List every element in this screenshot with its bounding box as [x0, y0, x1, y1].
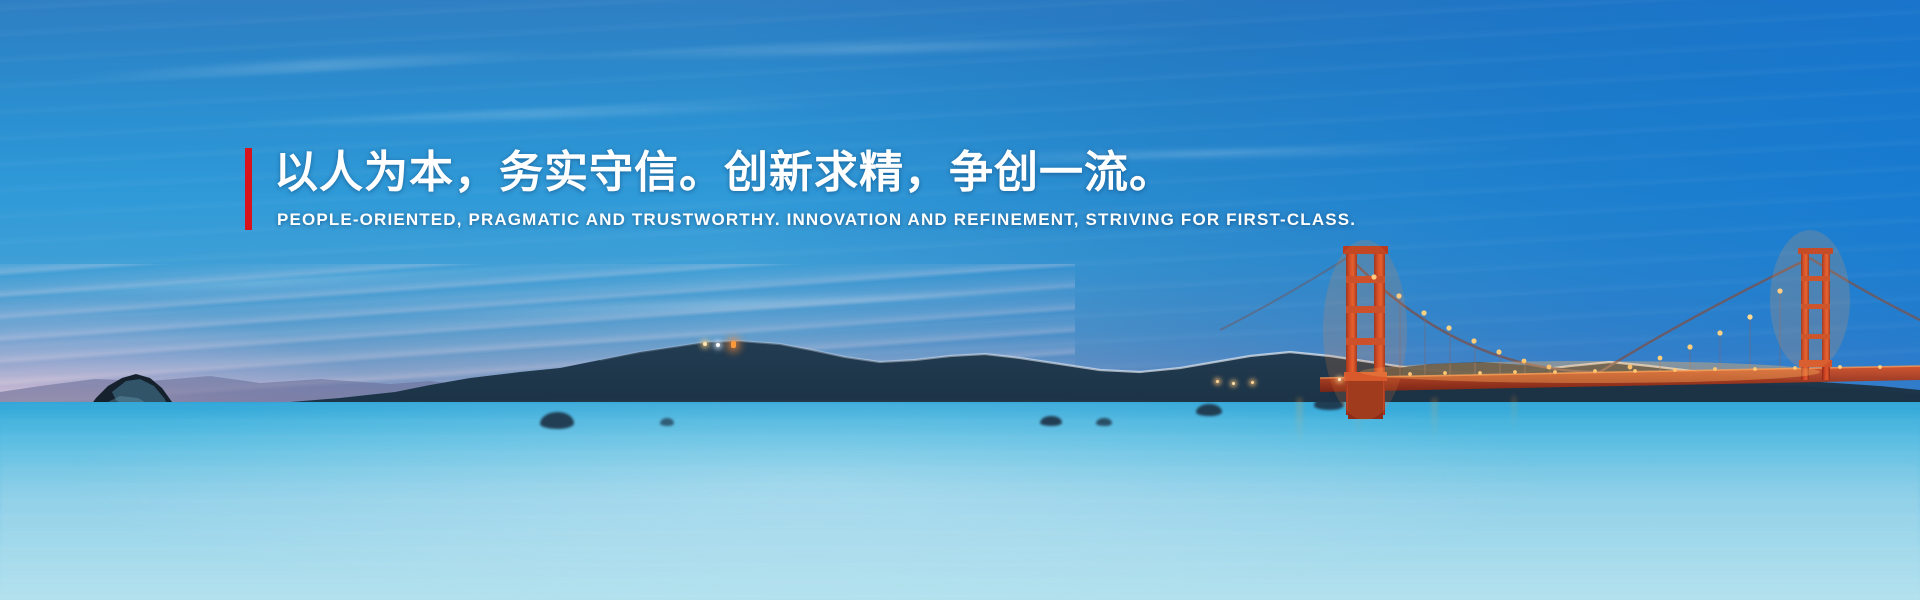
ridge-light-icon	[703, 342, 707, 346]
banner-headline: 以人为本，务实守信。创新求精，争创一流。	[274, 148, 1356, 198]
shore-light-icon	[1251, 381, 1254, 384]
bridge-light-glow	[1323, 230, 1850, 420]
ridge-light-icon	[731, 341, 736, 348]
hero-banner: 以人为本，务实守信。创新求精，争创一流。 PEOPLE-ORIENTED, PR…	[0, 0, 1920, 600]
water-rock	[1040, 416, 1062, 426]
shore-light-icon	[1216, 380, 1219, 383]
golden-gate-bridge	[1160, 0, 1920, 600]
shore-light-icon	[1338, 378, 1341, 381]
water-rock	[660, 418, 674, 426]
red-accent-bar	[245, 148, 252, 230]
bridge-cable-lights	[1371, 274, 1782, 369]
banner-text-group: 以人为本，务实守信。创新求精，争创一流。 PEOPLE-ORIENTED, PR…	[274, 148, 1356, 230]
water-rock	[540, 412, 574, 429]
ridge-light-icon	[716, 343, 720, 347]
shore-light-icon	[1232, 382, 1235, 385]
banner-subheadline: PEOPLE-ORIENTED, PRAGMATIC AND TRUSTWORT…	[277, 210, 1356, 230]
water-rock	[1096, 418, 1112, 426]
banner-copy-block: 以人为本，务实守信。创新求精，争创一流。 PEOPLE-ORIENTED, PR…	[245, 148, 1356, 230]
